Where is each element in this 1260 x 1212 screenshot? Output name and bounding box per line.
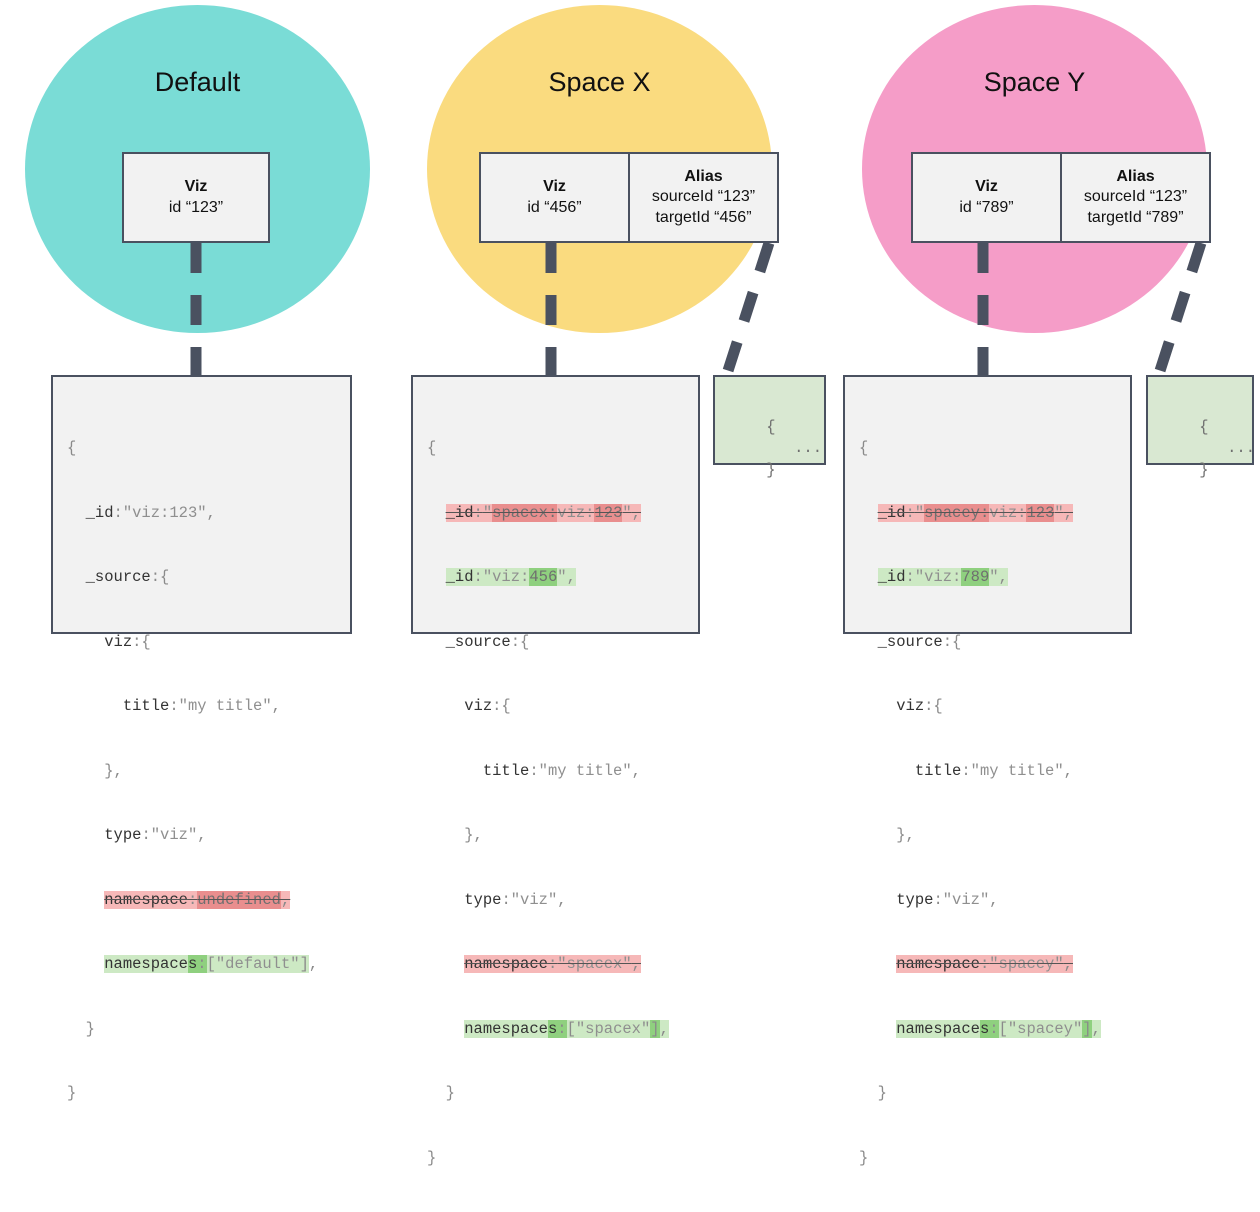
connector-spacey-alias: [1140, 243, 1206, 377]
entity-alias-spacey: Alias sourceId “123” targetId “789”: [1060, 154, 1209, 241]
code-line: type:"viz",: [67, 825, 336, 847]
space-title-spacex: Space X: [427, 67, 772, 98]
code-line: {: [1199, 418, 1208, 436]
code-line: }: [859, 1083, 1116, 1105]
code-line: title:"my title",: [427, 761, 684, 783]
entity-detail-line: sourceId “123”: [652, 187, 755, 207]
code-line-added: _id:"viz:789",: [859, 567, 1116, 589]
code-line: type:"viz",: [859, 890, 1116, 912]
entity-viz-default: Viz id “123”: [124, 154, 268, 241]
entity-detail-line: id “789”: [959, 198, 1013, 218]
code-line-ellipsis: ...: [766, 439, 822, 457]
code-line: }: [427, 1083, 684, 1105]
code-line: viz:{: [859, 696, 1116, 718]
code-line: viz:{: [427, 696, 684, 718]
code-line-added: namespaces:["default"],: [67, 954, 336, 976]
diagram-canvas: Default Viz id “123” Space X Viz id “456…: [0, 0, 1260, 642]
code-line: }: [67, 1019, 336, 1041]
entity-detail-line: targetId “789”: [1087, 208, 1183, 228]
entity-detail-line: id “123”: [169, 198, 223, 218]
entity-viz-spacey: Viz id “789”: [913, 154, 1060, 241]
code-line: }: [67, 1083, 336, 1105]
connector-spacex-alias: [712, 243, 774, 377]
code-line: }: [766, 461, 775, 479]
code-line-removed: namespace:"spacex",: [427, 954, 684, 976]
alias-document-panel-spacex: { ... }: [713, 375, 826, 465]
code-line-removed: namespace:"spacey",: [859, 954, 1116, 976]
code-line: },: [427, 825, 684, 847]
entity-name-label: Alias: [684, 167, 722, 188]
code-line: _source:{: [67, 567, 336, 589]
entity-name-label: Viz: [185, 177, 208, 198]
code-line: title:"my title",: [67, 696, 336, 718]
entity-name-label: Viz: [543, 177, 566, 198]
code-line-removed: _id:"spacex:viz:123",: [427, 503, 684, 525]
code-line: {: [766, 418, 775, 436]
code-line-added: namespaces:["spacey"],: [859, 1019, 1116, 1041]
entity-name-label: Viz: [975, 177, 998, 198]
entity-group-spacex: Viz id “456” Alias sourceId “123” target…: [479, 152, 779, 243]
code-line: viz:{: [67, 632, 336, 654]
code-line: },: [859, 825, 1116, 847]
space-title-spacey: Space Y: [862, 67, 1207, 98]
space-title-default: Default: [25, 67, 370, 98]
code-line-ellipsis: ...: [1199, 439, 1255, 457]
code-line: }: [427, 1148, 684, 1170]
code-line-added: namespaces:["spacex"],: [427, 1019, 684, 1041]
entity-name-label: Alias: [1116, 167, 1154, 188]
entity-group-spacey: Viz id “789” Alias sourceId “123” target…: [911, 152, 1211, 243]
code-line: }: [859, 1148, 1116, 1170]
entity-viz-spacex: Viz id “456”: [481, 154, 628, 241]
code-line-removed: _id:"spacey:viz:123",: [859, 503, 1116, 525]
code-line: {: [859, 438, 1116, 460]
connector-spacey-viz: [976, 243, 990, 377]
document-panel-spacex: { _id:"spacex:viz:123", _id:"viz:456", _…: [411, 375, 700, 634]
code-line: }: [1199, 461, 1208, 479]
code-line: {: [67, 438, 336, 460]
entity-alias-spacex: Alias sourceId “123” targetId “456”: [628, 154, 777, 241]
code-line: _source:{: [859, 632, 1116, 654]
entity-detail-line: id “456”: [527, 198, 581, 218]
document-panel-spacey: { _id:"spacey:viz:123", _id:"viz:789", _…: [843, 375, 1132, 634]
code-line: {: [427, 438, 684, 460]
code-line: },: [67, 761, 336, 783]
document-panel-default: { _id:"viz:123", _source:{ viz:{ title:"…: [51, 375, 352, 634]
entity-detail-line: sourceId “123”: [1084, 187, 1187, 207]
code-line: _source:{: [427, 632, 684, 654]
entity-group-default: Viz id “123”: [122, 152, 270, 243]
connector-spacex-viz: [544, 243, 558, 377]
entity-detail-line: targetId “456”: [655, 208, 751, 228]
code-line-removed: namespace:undefined,: [67, 890, 336, 912]
alias-document-panel-spacey: { ... }: [1146, 375, 1254, 465]
code-line-added: _id:"viz:456",: [427, 567, 684, 589]
code-line: _id:"viz:123",: [67, 503, 336, 525]
code-line: title:"my title",: [859, 761, 1116, 783]
code-line: type:"viz",: [427, 890, 684, 912]
connector-default-viz: [189, 243, 203, 377]
